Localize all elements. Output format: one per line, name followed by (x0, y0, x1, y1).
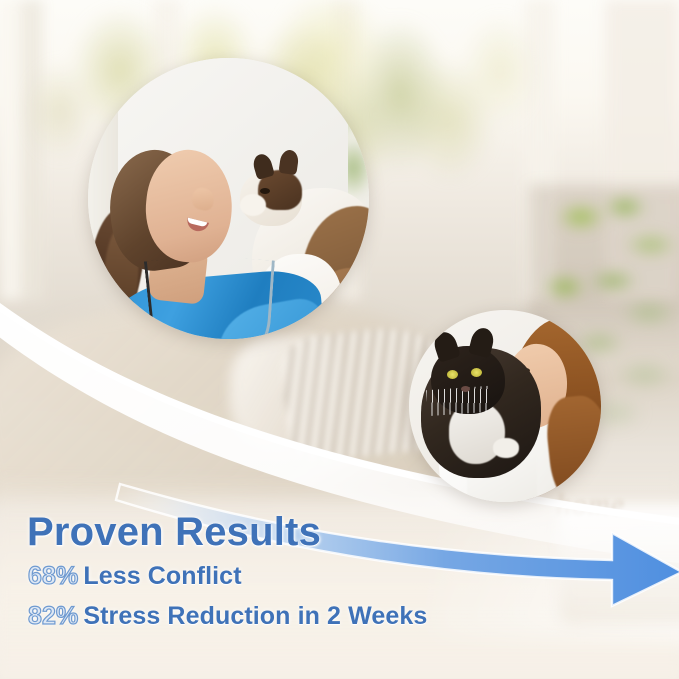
headline-proven-results: Proven Results (27, 510, 321, 555)
photo-woman-with-black-cat (409, 310, 601, 502)
infographic-canvas: home (0, 0, 679, 679)
cat1-muzzle (240, 194, 266, 216)
stat-line-2: 82%Stress Reduction in 2 Weeks (28, 602, 427, 631)
cat1-eye (260, 188, 270, 194)
photo-vet-with-brown-white-cat (88, 58, 369, 339)
stat-2-label: Stress Reduction in 2 Weeks (83, 602, 427, 630)
cat2-eye-right (471, 368, 482, 377)
stat-1-label: Less Conflict (83, 562, 241, 590)
cat2-eye-left (447, 370, 458, 379)
cat2-paw (493, 438, 519, 458)
stat-line-1: 68%Less Conflict (28, 562, 242, 591)
stethoscope-tube-right (194, 256, 275, 339)
blurred-foreground-object (559, 504, 679, 624)
stat-1-percent: 68% (28, 562, 78, 590)
cat2-whiskers (426, 386, 490, 416)
cat2-nose (461, 386, 470, 392)
stat-2-percent: 82% (28, 602, 78, 630)
